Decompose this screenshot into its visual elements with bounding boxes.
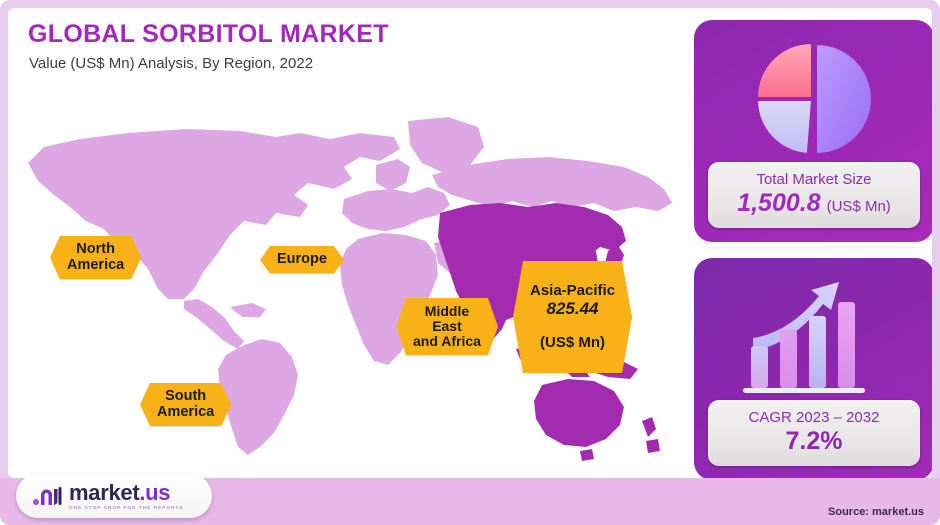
map-label-south-america[interactable]: South America <box>140 383 231 426</box>
card-cagr[interactable]: CAGR 2023 – 2032 7.2% <box>694 258 932 478</box>
asia-pacific-value: 825.44 <box>530 300 615 318</box>
logo-text: market.us ONE STOP SHOP FOR THE REPORTS <box>69 482 184 511</box>
cagr-value: 7.2% <box>786 427 843 456</box>
pie-chart-icon <box>694 26 932 171</box>
logo-mark-icon <box>32 483 62 509</box>
map-label-asia-pacific[interactable]: Asia-Pacific 825.44 (US$ Mn) <box>513 261 632 373</box>
page-subtitle: Value (US$ Mn) Analysis, By Region, 2022 <box>29 55 313 72</box>
page-title: GLOBAL SORBITOL MARKET <box>28 20 389 49</box>
cagr-label: CAGR 2023 – 2032 <box>749 410 880 427</box>
market-size-value: 1,500.8 <box>737 189 820 218</box>
cagr-value-box: CAGR 2023 – 2032 7.2% <box>708 400 920 466</box>
map-label-north-america[interactable]: North America <box>50 236 141 279</box>
poster-content: GLOBAL SORBITOL MARKET Value (US$ Mn) An… <box>8 8 932 478</box>
map-label-europe[interactable]: Europe <box>260 246 344 274</box>
pie-chart-svg <box>753 38 875 160</box>
market-size-value-box: Total Market Size 1,500.8 (US$ Mn) <box>708 162 920 228</box>
source-label: Source: market.us <box>828 506 924 518</box>
growth-bar-chart-icon <box>694 264 932 409</box>
asia-pacific-unit: (US$ Mn) <box>530 335 615 351</box>
logo-name: market.us <box>69 482 184 504</box>
market-size-label: Total Market Size <box>756 172 871 189</box>
asia-pacific-name: Asia-Pacific <box>530 282 615 299</box>
footer-band: market.us ONE STOP SHOP FOR THE REPORTS … <box>0 478 940 525</box>
logo-tagline: ONE STOP SHOP FOR THE REPORTS <box>69 506 184 511</box>
growth-chart-svg <box>739 272 889 402</box>
card-total-market-size[interactable]: Total Market Size 1,500.8 (US$ Mn) <box>694 20 932 242</box>
market-size-value-row: 1,500.8 (US$ Mn) <box>737 189 891 218</box>
market-size-unit: (US$ Mn) <box>827 198 891 215</box>
map-label-middle-east-and-africa[interactable]: Middle East and Africa <box>396 298 498 355</box>
poster-frame: GLOBAL SORBITOL MARKET Value (US$ Mn) An… <box>0 0 940 525</box>
market-us-logo-icon[interactable]: market.us ONE STOP SHOP FOR THE REPORTS <box>16 474 212 518</box>
